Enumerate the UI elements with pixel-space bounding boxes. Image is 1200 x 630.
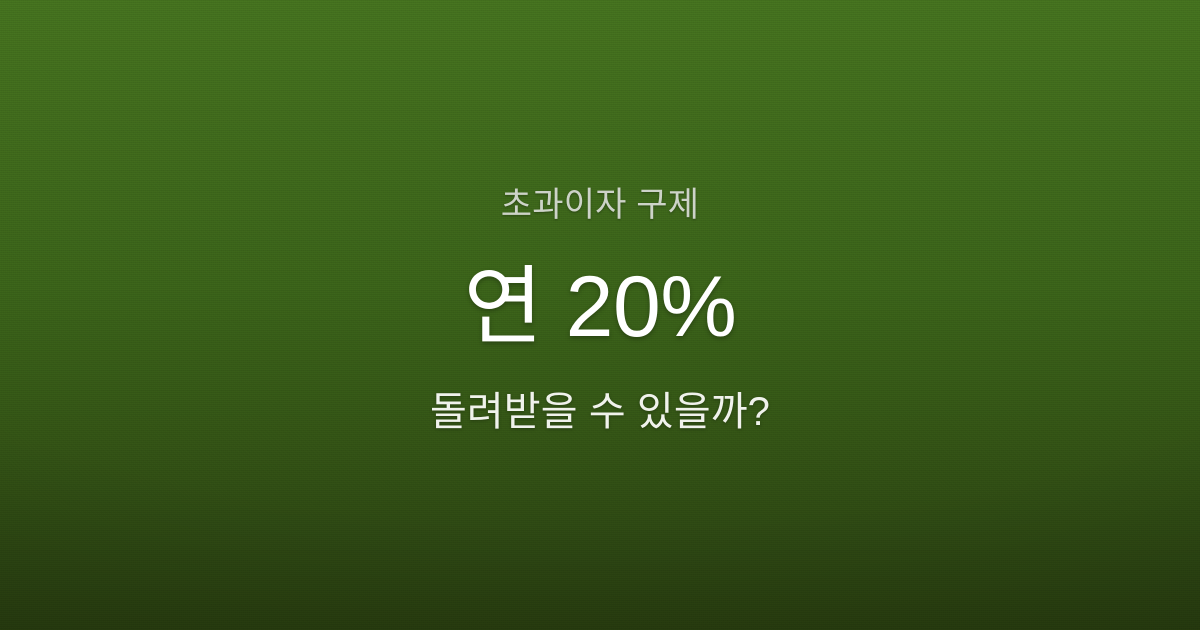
hero-headline: 연 20%	[464, 261, 737, 354]
og-image-card: 초과이자 구제 연 20% 돌려받을 수 있을까?	[0, 0, 1200, 630]
hero-text-stack: 초과이자 구제 연 20% 돌려받을 수 있을까?	[0, 184, 1200, 445]
hero-eyebrow: 초과이자 구제	[501, 184, 700, 227]
hero-subtitle: 돌려받을 수 있을까?	[430, 386, 770, 438]
